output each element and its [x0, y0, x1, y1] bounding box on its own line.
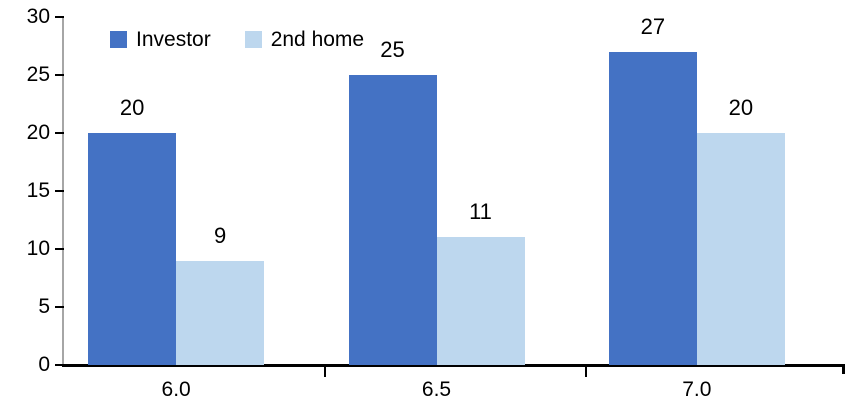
y-axis-tick-mark	[55, 190, 64, 192]
y-axis-tick-label: 25	[4, 64, 50, 85]
bar[interactable]	[437, 237, 525, 365]
chart-legend: Investor 2nd home	[110, 29, 364, 50]
x-axis-tick-mark	[585, 366, 587, 377]
bar-value-label: 20	[696, 97, 786, 119]
bar[interactable]	[609, 52, 697, 365]
legend-label-investor: Investor	[136, 29, 211, 50]
x-axis-category-label: 7.0	[637, 379, 757, 400]
x-axis-tick-mark	[324, 366, 326, 377]
x-axis-category-label: 6.5	[377, 379, 497, 400]
y-axis-tick-mark	[55, 132, 64, 134]
bar[interactable]	[697, 133, 785, 365]
y-axis-tick-mark	[55, 248, 64, 250]
legend-swatch-icon-investor	[110, 31, 127, 48]
bar[interactable]	[349, 75, 437, 365]
x-axis-category-label: 6.0	[116, 379, 236, 400]
legend-item-second-home[interactable]: 2nd home	[245, 29, 364, 50]
bar-value-label: 27	[608, 16, 698, 38]
legend-swatch-icon-second-home	[245, 31, 262, 48]
y-axis-tick-mark	[55, 306, 64, 308]
y-axis-tick-mark	[55, 364, 64, 366]
bar-value-label: 9	[175, 225, 265, 247]
bar[interactable]	[176, 261, 264, 365]
y-axis-tick-label: 15	[4, 180, 50, 201]
y-axis-tick-label: 5	[4, 296, 50, 317]
bar-value-label: 11	[436, 201, 526, 223]
y-axis-tick-mark	[55, 74, 64, 76]
y-axis-tick-mark	[55, 16, 64, 18]
legend-item-investor[interactable]: Investor	[110, 29, 211, 50]
y-axis-tick-label: 10	[4, 238, 50, 259]
y-axis-tick-label: 0	[4, 354, 50, 375]
bar[interactable]	[88, 133, 176, 365]
x-axis-end-tick	[842, 364, 845, 374]
legend-label-second-home: 2nd home	[271, 29, 364, 50]
bar-value-label: 20	[87, 97, 177, 119]
y-axis-tick-label: 20	[4, 122, 50, 143]
bar-chart: 051015202530 20925112720 6.06.57.0 Inves…	[0, 0, 852, 410]
y-axis-tick-label: 30	[4, 6, 50, 27]
